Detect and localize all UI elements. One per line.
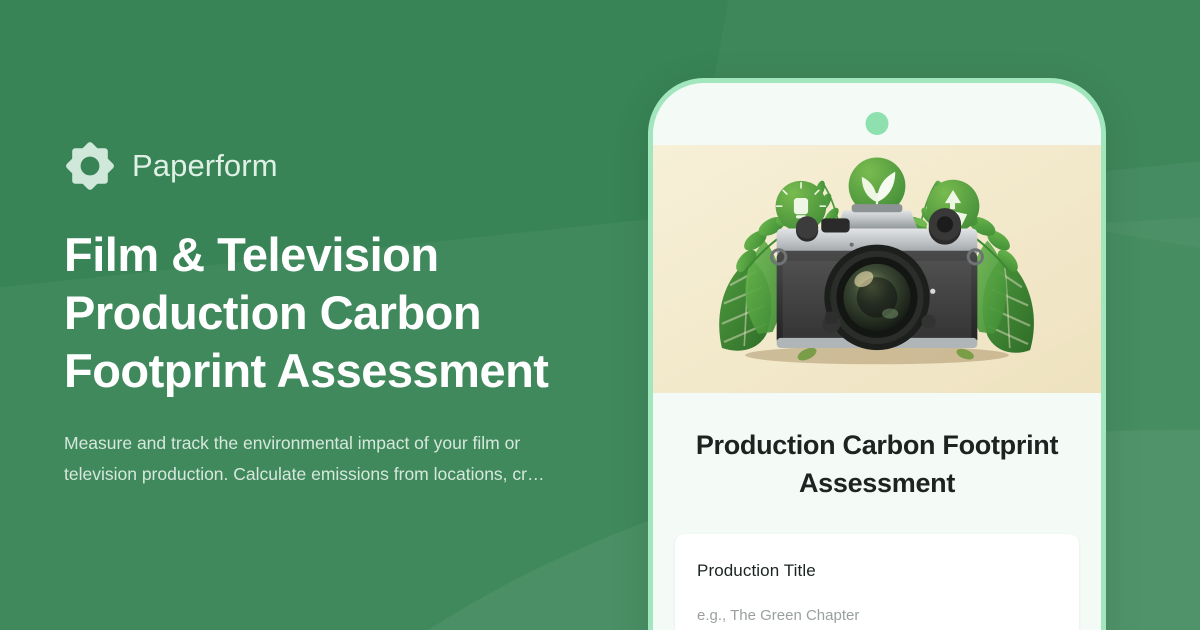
form-screen: Production Carbon Footprint Assessment P… <box>653 393 1101 630</box>
brand-name: Paperform <box>132 148 278 184</box>
form-hero-illustration <box>653 145 1101 393</box>
brand-lockup: Paperform <box>64 140 624 192</box>
field-label-production-title: Production Title <box>697 561 1057 581</box>
production-title-input[interactable] <box>697 607 1057 624</box>
field-input-wrapper[interactable] <box>697 607 1057 630</box>
form-title: Production Carbon Footprint Assessment <box>675 426 1079 503</box>
hero-text-column: Paperform Film & Television Production C… <box>64 0 624 630</box>
page-description: Measure and track the environmental impa… <box>64 428 554 490</box>
paperform-flower-mark-icon <box>64 140 116 192</box>
front-camera-dot-icon <box>866 112 889 135</box>
form-field-card[interactable]: Production Title <box>675 534 1079 630</box>
phone-mockup: Production Carbon Footprint Assessment P… <box>648 78 1106 630</box>
page-title: Film & Television Production Carbon Foot… <box>64 226 609 399</box>
